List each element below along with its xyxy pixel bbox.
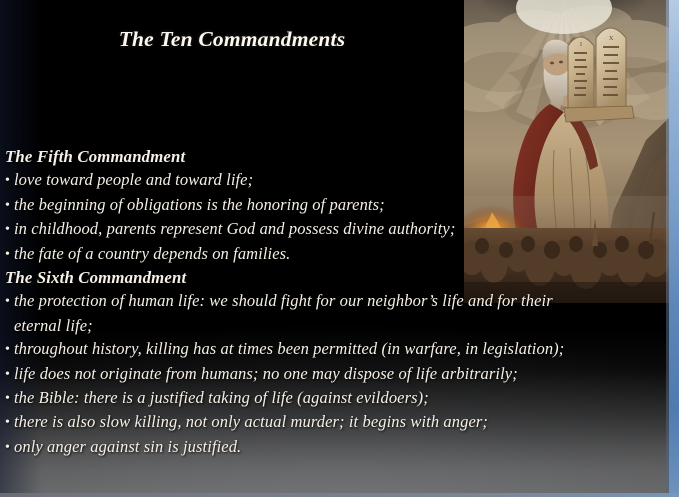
bullet-text: love toward people and toward life; bbox=[14, 170, 253, 189]
bullet-item: •there is also slow killing, not only ac… bbox=[5, 410, 674, 434]
bullet-text: in childhood, parents represent God and … bbox=[14, 219, 455, 238]
bullet-text: the beginning of obligations is the hono… bbox=[14, 195, 385, 214]
slide-canvas: The Ten Commandments bbox=[0, 0, 679, 497]
bullet-icon: • bbox=[5, 363, 14, 386]
bullet-item-continuation: eternal life; bbox=[5, 314, 674, 337]
bullet-item: •in childhood, parents represent God and… bbox=[5, 217, 674, 241]
bullet-icon: • bbox=[5, 436, 14, 459]
bullet-item: •love toward people and toward life; bbox=[5, 168, 674, 192]
bullet-icon: • bbox=[5, 243, 14, 266]
bullet-item: •life does not originate from humans; no… bbox=[5, 362, 674, 386]
bullet-icon: • bbox=[5, 218, 14, 241]
bullet-icon: • bbox=[5, 169, 14, 192]
heading-fifth-commandment: The Fifth Commandment bbox=[5, 145, 674, 168]
bullet-icon: • bbox=[5, 290, 14, 313]
bullet-item: •the fate of a country depends on famili… bbox=[5, 242, 674, 266]
bullet-text: only anger against sin is justified. bbox=[14, 437, 241, 456]
bullet-icon: • bbox=[5, 387, 14, 410]
bullet-icon: • bbox=[5, 411, 14, 434]
slide-body: The Fifth Commandment •love toward peopl… bbox=[5, 145, 674, 459]
bullet-text: eternal life; bbox=[14, 316, 93, 335]
bullet-item: •the protection of human life: we should… bbox=[5, 289, 674, 313]
bullet-text: life does not originate from humans; no … bbox=[14, 364, 518, 383]
bullet-item: •the beginning of obligations is the hon… bbox=[5, 193, 674, 217]
bullet-item: •only anger against sin is justified. bbox=[5, 435, 674, 459]
bullet-text: the protection of human life: we should … bbox=[14, 291, 553, 310]
bullet-text: throughout history, killing has at times… bbox=[14, 339, 564, 358]
right-edge-accent-bar bbox=[669, 0, 679, 497]
bullet-icon: • bbox=[5, 338, 14, 361]
bottom-edge-accent-bar bbox=[0, 493, 679, 497]
slide-title: The Ten Commandments bbox=[0, 27, 464, 52]
bullet-item: •the Bible: there is a justified taking … bbox=[5, 386, 674, 410]
bullet-text: the Bible: there is a justified taking o… bbox=[14, 388, 429, 407]
bullet-icon: • bbox=[5, 194, 14, 217]
bullet-item: •throughout history, killing has at time… bbox=[5, 337, 674, 361]
heading-sixth-commandment: The Sixth Commandment bbox=[5, 266, 674, 289]
bullet-text: the fate of a country depends on familie… bbox=[14, 244, 290, 263]
bullet-text: there is also slow killing, not only act… bbox=[14, 412, 488, 431]
